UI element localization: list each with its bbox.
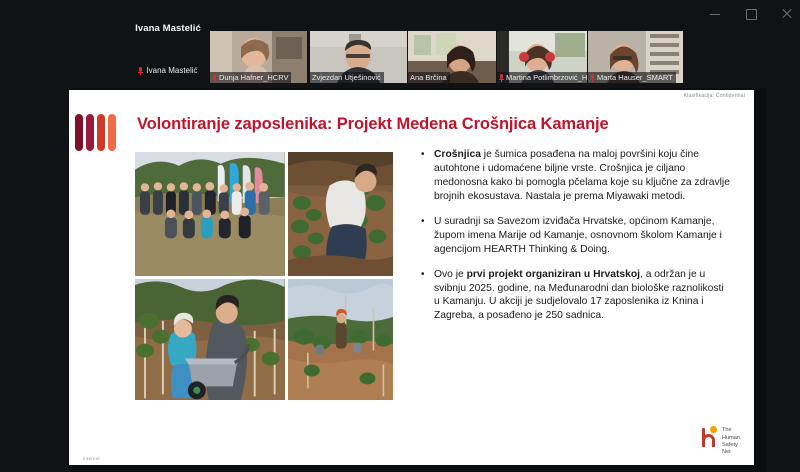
brand-logo: The Human Safety Net (701, 425, 740, 456)
logo-line-4: Net (722, 449, 740, 456)
bullet-text: Ovo je prvi projekt organiziran u Hrvats… (434, 268, 731, 324)
presentation-slide: Klasifikacija: Confidential Volontiranje… (69, 90, 754, 465)
logo-line-3: Safety (722, 442, 740, 449)
app-window: Ivana Mastelić Ivana Mastelić Dunja Hafn… (0, 0, 800, 472)
bullet-emphasis: prvi projekt organiziran u Hrvatskoj (467, 269, 640, 280)
slide-title: Volontiranje zaposlenika: Projekt Medena… (137, 115, 734, 134)
bullet-text: Crošnjica je šumica posađena na maloj po… (434, 148, 731, 204)
participant-name-chip: Ana Brčina (408, 72, 450, 83)
brand-logo-text: The Human Safety Net (722, 425, 740, 456)
participant-name-label: Zvjezdan Utješinović (312, 73, 381, 82)
participant-name-label: Martina Potlimbrzović_H... (506, 73, 587, 82)
bullet-body: U suradnji sa Savezom izviđača Hrvatske,… (434, 216, 722, 255)
microphone-muted-icon (590, 74, 595, 82)
bullet-marker: • (421, 268, 434, 324)
minimize-icon[interactable] (708, 7, 722, 21)
photo-planting-sapling (288, 152, 393, 276)
microphone-muted-icon (499, 74, 504, 82)
photo-group-volunteers (135, 152, 285, 276)
bullet-pre: Ovo je (434, 269, 467, 280)
participant-name-label: Dunja Hafner_HCRV (219, 73, 288, 82)
bullet-marker: • (421, 148, 434, 204)
bullet-text: U suradnji sa Savezom izviđača Hrvatske,… (434, 215, 731, 257)
stage-left-bar (58, 88, 69, 472)
participant-tile[interactable]: Ana Brčina (408, 31, 496, 83)
photo-collage (135, 152, 393, 400)
bullet-marker: • (421, 215, 434, 257)
microphone-muted-icon (138, 67, 143, 75)
human-safety-net-mark-icon (701, 425, 718, 447)
decorative-bars (75, 114, 116, 151)
participant-name-chip: Marta Hauser_SMART (588, 72, 676, 83)
classification-label: Klasifikacija: Confidential (684, 93, 745, 99)
participant-tile-active-speaker[interactable]: Zvjezdan Utješinović (310, 31, 407, 83)
photo-wheelbarrow (135, 279, 285, 400)
participant-name-label: Ana Brčina (410, 73, 447, 82)
bullet-item: • U suradnji sa Savezom izviđača Hrvatsk… (421, 215, 731, 257)
window-controls (708, 4, 794, 24)
bullet-lead: Crošnjica (434, 149, 481, 160)
participant-name-chip: Martina Potlimbrzović_H... (497, 72, 587, 83)
slide-bullet-list: • Crošnjica je šumica posađena na maloj … (421, 148, 731, 334)
bullet-item: • Ovo je prvi projekt organiziran u Hrva… (421, 268, 731, 324)
bar-3 (97, 114, 105, 151)
bar-2 (86, 114, 94, 151)
close-icon[interactable] (780, 7, 794, 21)
footer-note: internal (83, 456, 100, 461)
logo-line-1: The (722, 427, 740, 434)
bullet-item: • Crošnjica je šumica posađena na maloj … (421, 148, 731, 204)
bar-1 (75, 114, 83, 151)
photo-planted-field (288, 279, 393, 400)
self-name-label: Ivana Mastelić (146, 66, 197, 75)
microphone-muted-icon (212, 74, 217, 82)
participant-name-label: Marta Hauser_SMART (597, 73, 673, 82)
bar-4 (108, 114, 116, 151)
participant-name-chip: Dunja Hafner_HCRV (210, 72, 291, 83)
participant-tile[interactable]: Marta Hauser_SMART (588, 31, 683, 83)
participant-tile[interactable]: Martina Potlimbrzović_H... (497, 31, 587, 83)
participant-filmstrip: Ivana Mastelić Ivana Mastelić Dunja Hafn… (0, 31, 800, 83)
logo-line-2: Human (722, 435, 740, 442)
participant-tile[interactable]: Dunja Hafner_HCRV (210, 31, 307, 83)
maximize-icon[interactable] (744, 7, 758, 21)
participant-name-chip: Zvjezdan Utješinović (310, 72, 384, 83)
shared-screen-stage: Klasifikacija: Confidential Volontiranje… (58, 88, 766, 472)
